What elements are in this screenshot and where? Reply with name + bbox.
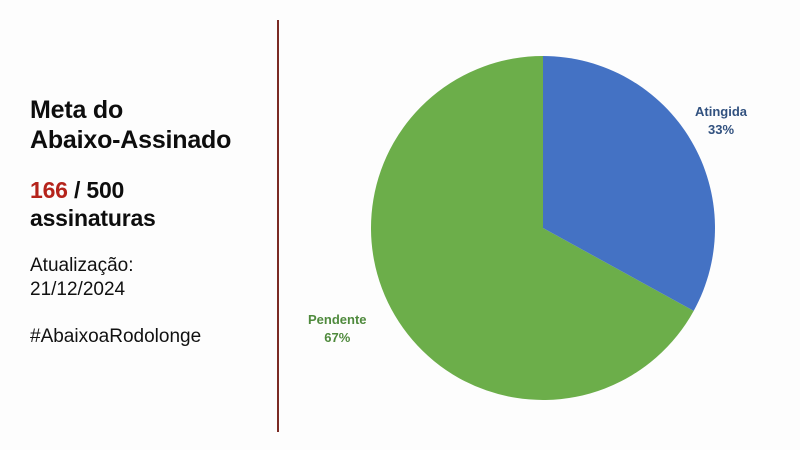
slide-canvas: Meta do Abaixo-Assinado 166 / 500 assina… <box>0 0 800 450</box>
pie-label-atingida: Atingida 33% <box>695 103 747 138</box>
goal-info-panel: Meta do Abaixo-Assinado 166 / 500 assina… <box>30 96 265 348</box>
pie-label-pendente-value: 67% <box>308 329 367 347</box>
panel-divider <box>277 20 279 432</box>
updated-label: Atualização: <box>30 254 265 278</box>
pie-chart-svg <box>300 0 800 450</box>
counter-fraction-line: 166 / 500 <box>30 177 265 205</box>
pie-label-pendente-name: Pendente <box>308 312 367 327</box>
counter-target-value: / 500 <box>68 177 124 203</box>
counter-current-value: 166 <box>30 177 68 203</box>
counter-unit-label: assinaturas <box>30 205 265 233</box>
pie-label-pendente: Pendente 67% <box>308 311 367 346</box>
signature-counter: 166 / 500 assinaturas <box>30 177 265 232</box>
pie-chart: Atingida 33% Pendente 67% <box>300 0 800 450</box>
pie-label-atingida-name: Atingida <box>695 104 747 119</box>
title-line-2: Abaixo-Assinado <box>30 126 265 156</box>
page-title: Meta do Abaixo-Assinado <box>30 96 265 155</box>
title-line-1: Meta do <box>30 96 265 126</box>
updated-date: 21/12/2024 <box>30 278 265 302</box>
campaign-hashtag: #AbaixoaRodolonge <box>30 326 265 348</box>
last-updated: Atualização: 21/12/2024 <box>30 254 265 302</box>
pie-label-atingida-value: 33% <box>695 121 747 139</box>
